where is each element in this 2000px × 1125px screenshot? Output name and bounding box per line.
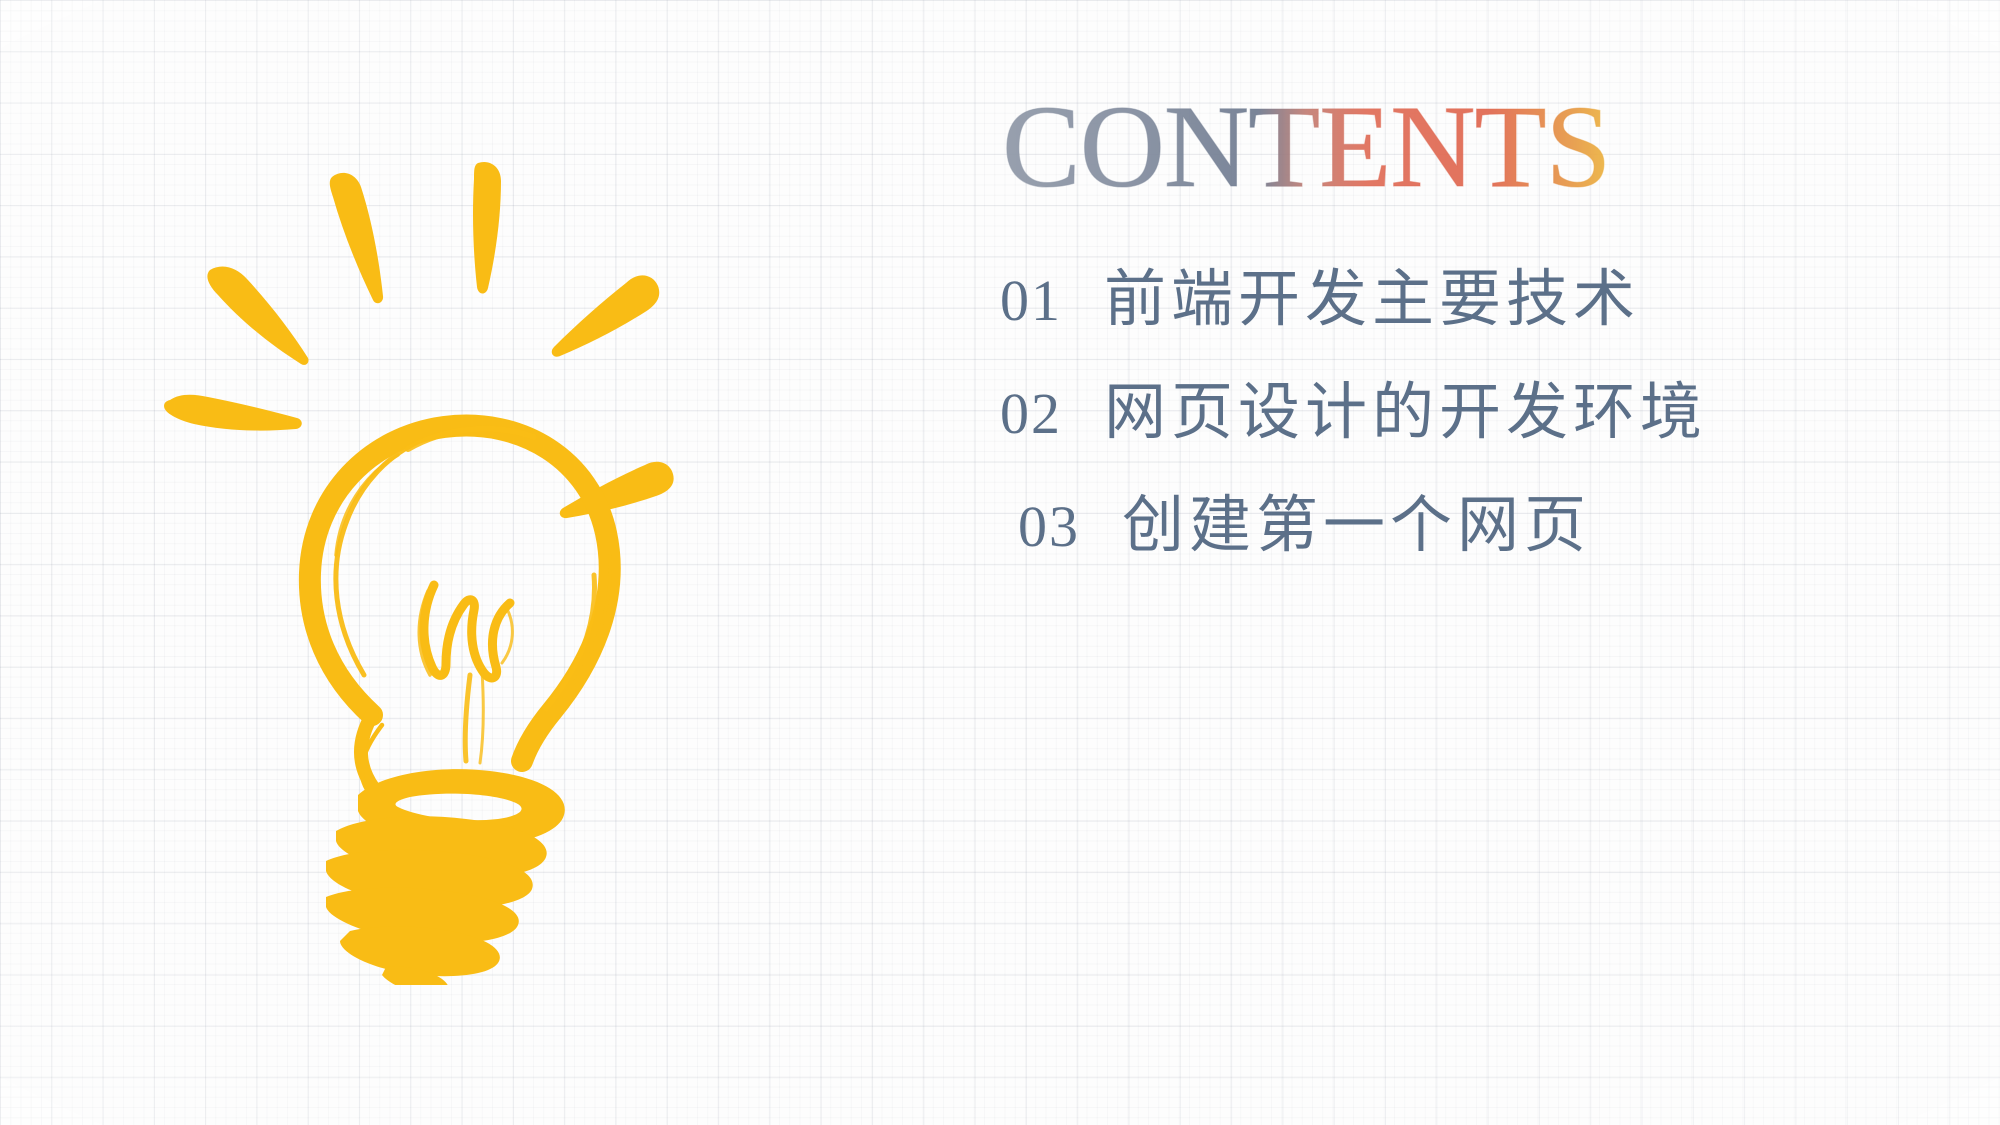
list-item[interactable]: 02 网页设计的开发环境 xyxy=(1000,381,1930,446)
svg-text:CONTENTS: CONTENTS xyxy=(1002,81,1610,210)
list-item-number: 01 xyxy=(1000,272,1104,330)
list-item-number: 03 xyxy=(1018,498,1122,556)
lightbulb-rays xyxy=(164,162,674,518)
list-item[interactable]: 03 创建第一个网页 xyxy=(1018,494,1930,559)
contents-panel: CONTENTS CONTENTS 01 前端开发主要技术 02 网页设计的开发… xyxy=(1000,80,1930,559)
lightbulb-filament xyxy=(419,585,512,763)
page-title: CONTENTS CONTENTS xyxy=(1000,80,1930,210)
list-item[interactable]: 01 前端开发主要技术 xyxy=(1000,268,1930,333)
slide-canvas: CONTENTS CONTENTS 01 前端开发主要技术 02 网页设计的开发… xyxy=(0,0,2000,1125)
contents-list: 01 前端开发主要技术 02 网页设计的开发环境 03 创建第一个网页 xyxy=(1000,268,1930,559)
list-item-label: 前端开发主要技术 xyxy=(1104,268,1640,333)
lightbulb-illustration xyxy=(150,155,790,985)
list-item-label: 网页设计的开发环境 xyxy=(1104,381,1707,446)
list-item-number: 02 xyxy=(1000,385,1104,443)
list-item-label: 创建第一个网页 xyxy=(1122,494,1591,559)
lightbulb-screw-base xyxy=(326,769,565,985)
